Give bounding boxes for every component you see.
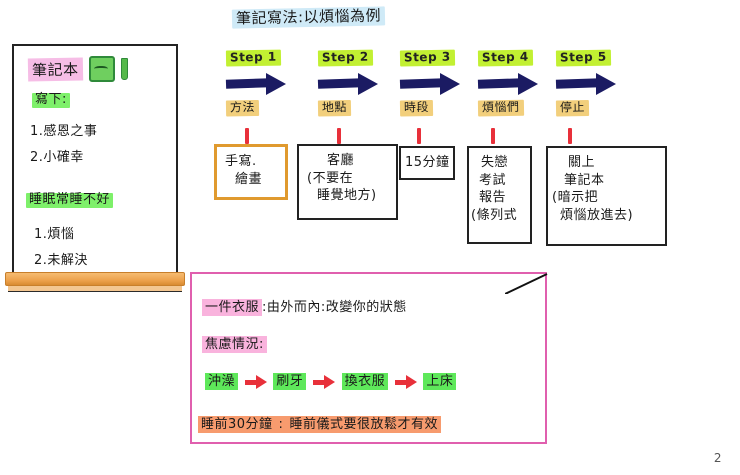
arrow-right-icon [245, 376, 267, 388]
step-label-2: Step 2 [318, 49, 380, 66]
step-sub-label-1: 方法 [226, 99, 288, 116]
routine-step: 上床 [423, 373, 456, 390]
pink-line-4-separator: : [276, 416, 287, 433]
page-title: 筆記寫法:以煩惱為例 [232, 6, 385, 28]
page-title-text: 筆記寫法:以煩惱為例 [232, 6, 385, 28]
step-column-5: Step 5 停止 [556, 50, 618, 116]
connector-2 [337, 128, 341, 144]
connector-1 [245, 128, 249, 144]
arrow-right-icon [400, 74, 462, 94]
arrow-right-icon [226, 74, 288, 94]
list-item: 2.小確幸 [30, 146, 84, 165]
list-item: 2.未解決 [34, 249, 88, 268]
page-number: 2 [714, 451, 722, 465]
pen-icon [121, 58, 128, 80]
step-label-1: Step 1 [226, 49, 288, 66]
step-column-2: Step 2 地點 [318, 50, 380, 116]
notebook-stand-lip [8, 286, 182, 292]
step-sub-label-4: 煩惱們 [478, 99, 540, 116]
outcome-box-5: 關上 筆記本 (暗示把 煩惱放進去) [546, 146, 667, 246]
list-item: 1.感恩之事 [30, 120, 97, 139]
arrow-right-icon [318, 74, 380, 94]
outcome-box-3: 15分鐘 [399, 146, 455, 180]
notebook-panel: 筆記本 寫下: 1.感恩之事 2.小確幸 睡眠常睡不好 1.煩惱 2.未解決 [12, 44, 178, 276]
arrow-right-icon [556, 74, 618, 94]
pink-line-1-highlight: 一件衣服 [202, 299, 262, 316]
connector-3 [417, 128, 421, 144]
routine-step: 沖澡 [205, 373, 238, 390]
list-item: 1.煩惱 [34, 223, 74, 242]
arrow-right-icon [395, 376, 417, 388]
step-label-3: Step 3 [400, 49, 462, 66]
pink-line-4-highlight-a: 睡前30分鐘 [198, 416, 276, 433]
pink-line-1-rest: :由外而內:改變你的狀態 [262, 300, 407, 315]
arrow-right-icon [478, 74, 540, 94]
notebook-section-one-heading: 寫下: [32, 92, 70, 108]
routine-step: 換衣服 [342, 373, 389, 390]
step-column-1: Step 1 方法 [226, 50, 288, 116]
outcome-box-4: 失戀 考試 報告 (條列式 [467, 146, 532, 244]
routine-flow: 沖澡 刷牙 換衣服 上床 [205, 370, 456, 389]
notebook-icon [89, 56, 115, 82]
step-column-3: Step 3 時段 [400, 50, 462, 116]
step-label-5: Step 5 [556, 49, 618, 66]
notebook-stand [5, 272, 185, 286]
step-sub-label-5: 停止 [556, 99, 618, 116]
step-label-4: Step 4 [478, 49, 540, 66]
notebook-title: 筆記本 [28, 57, 83, 81]
arrow-right-icon [313, 376, 335, 388]
outcome-box-2: 客廳 (不要在 睡覺地方) [297, 144, 398, 220]
routine-step: 刷牙 [273, 373, 306, 390]
connector-5 [568, 128, 572, 144]
step-sub-label-2: 地點 [318, 99, 380, 116]
pink-line-4: 睡前30分鐘:睡前儀式要很放鬆才有效 [198, 413, 441, 432]
pink-line-2: 焦慮情況: [202, 333, 267, 352]
note-page: 筆記寫法:以煩惱為例 筆記本 寫下: 1.感恩之事 2.小確幸 睡眠常睡不好 1… [0, 0, 740, 475]
notebook-title-row: 筆記本 [28, 56, 128, 82]
step-sub-label-3: 時段 [400, 99, 462, 116]
step-column-4: Step 4 煩惱們 [478, 50, 540, 116]
notebook-section-two-heading: 睡眠常睡不好 [26, 192, 113, 208]
pink-line-1: 一件衣服:由外而內:改變你的狀態 [202, 296, 407, 315]
pink-line-2-highlight: 焦慮情況: [202, 336, 267, 353]
outcome-box-1: 手寫. 繪畫 [214, 144, 288, 200]
connector-4 [491, 128, 495, 144]
pink-line-4-highlight-b: 睡前儀式要很放鬆才有效 [286, 416, 441, 433]
